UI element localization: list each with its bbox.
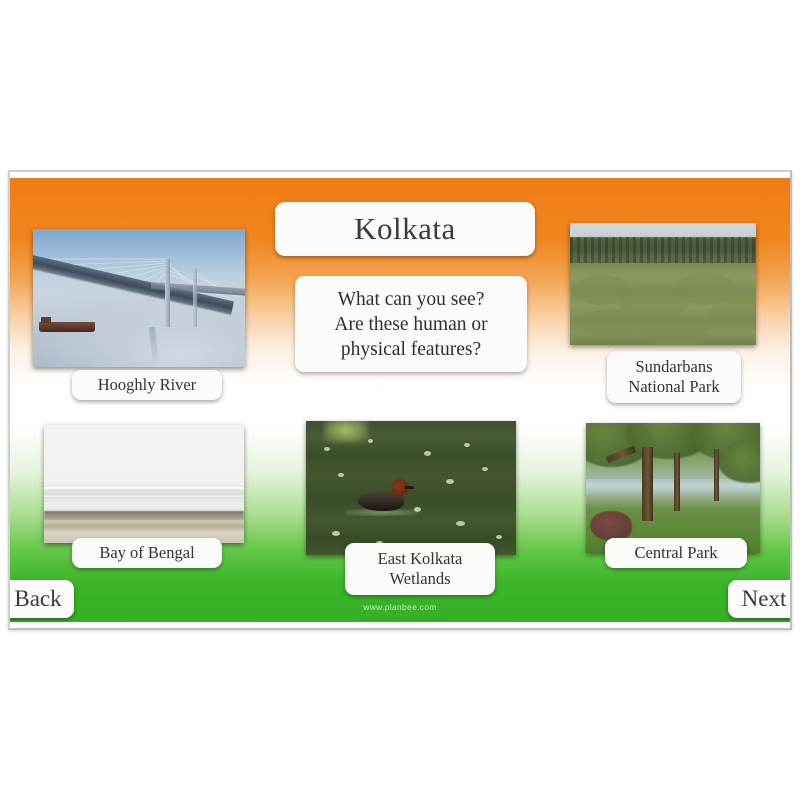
caption-line: East Kolkata [378,549,463,569]
algae-fleck-shape [496,535,502,539]
caption-line: National Park [628,377,719,397]
caption-line: Wetlands [390,569,451,589]
photo-east-kolkata-wetlands [306,421,516,555]
slide-title-box: Kolkata [275,202,535,256]
tree-trunk-shape [674,453,680,511]
photo-sundarbans-national-park [570,223,756,345]
algae-fleck-shape [424,451,431,456]
distant-treeline-shape [570,237,756,263]
next-button[interactable]: Next [728,580,790,618]
algae-fleck-shape [338,473,344,477]
question-line-2: Are these human or [334,312,487,337]
caption-line: Sundarbans [636,357,713,377]
photo-bay-of-bengal [44,425,244,543]
algae-fleck-shape [324,447,330,451]
question-line-3: physical features? [341,337,481,362]
lake-shape [586,479,760,495]
shoreline-debris-shape [44,511,244,520]
surf-line-shape [44,487,244,489]
algae-fleck-shape [456,521,465,526]
barge-shape [39,322,95,332]
surf-line-shape [44,495,244,497]
algae-fleck-shape [332,531,340,536]
bridge-pylon-near-shape [165,259,170,327]
tree-trunk-shape [642,447,653,521]
algae-fleck-shape [482,467,488,471]
scrub-shape [640,317,710,345]
question-prompt-box: What can you see? Are these human or phy… [295,276,527,372]
caption-central-park: Central Park [605,538,747,568]
page-canvas: Kolkata What can you see? Are these huma… [0,0,800,800]
caption-line: Central Park [635,543,718,563]
caption-hooghly-river: Hooghly River [72,370,222,400]
algae-fleck-shape [446,479,454,484]
grebe-beak-shape [405,486,414,489]
barge-cabin-shape [41,317,51,323]
caption-line: Hooghly River [98,375,197,395]
caption-sundarbans-national-park: Sundarbans National Park [607,351,741,403]
question-line-1: What can you see? [338,287,485,312]
photo-central-park [586,423,760,553]
bridge-pylon-far-shape [193,269,197,327]
tree-trunk-shape [714,449,719,501]
algae-fleck-shape [464,443,470,447]
caption-bay-of-bengal: Bay of Bengal [72,538,222,568]
scrub-shape [582,309,646,341]
scrub-shape [710,297,756,327]
caption-line: Bay of Bengal [99,543,194,563]
caption-east-kolkata-wetlands: East Kolkata Wetlands [345,543,495,595]
watermark: www.planbee.com [10,602,790,612]
photo-hooghly-river [33,229,245,367]
flowering-bush-shape [590,511,632,541]
presentation-slide: Kolkata What can you see? Are these huma… [10,178,790,622]
page-title: Kolkata [354,211,456,247]
algae-fleck-shape [368,439,373,443]
back-button[interactable]: Back [10,580,74,618]
foreground-leaf-shape [324,421,368,443]
